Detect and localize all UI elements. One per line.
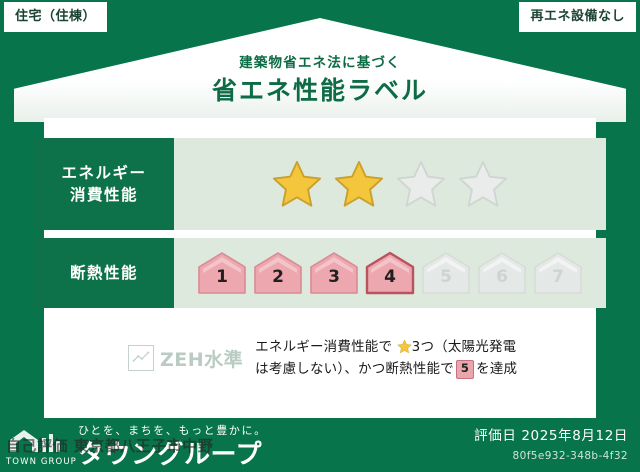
star-empty-icon <box>457 159 509 209</box>
title-subtitle: 建築物省エネ法に基づく <box>0 56 640 71</box>
zeh-desc-part3: を達成 <box>476 361 517 377</box>
insulation-level-scale: 1234567 <box>174 238 606 308</box>
insulation-level-number: 3 <box>328 269 340 295</box>
zeh-desc-part1: エネルギー消費性能で <box>255 339 392 355</box>
inline-star-icon <box>397 339 412 354</box>
insulation-level-number: 6 <box>496 269 508 295</box>
zeh-description: エネルギー消費性能で 3つ（太陽光発電は考慮しない）、かつ断熱性能で5を達成 <box>255 336 527 381</box>
row-label-insulation: 断熱性能 <box>34 238 174 308</box>
star-filled-icon <box>271 159 323 209</box>
tab-renewable-energy: 再エネ設備なし <box>519 2 636 32</box>
insulation-level-number: 5 <box>440 269 452 295</box>
insulation-level-number: 4 <box>384 269 396 295</box>
insulation-level-number: 1 <box>216 269 228 295</box>
insulation-level-badge-5: 5 <box>421 251 471 295</box>
insulation-level-number: 7 <box>552 269 564 295</box>
row-label-energy-line2: 消費性能 <box>70 184 138 206</box>
brand-logo: TOWN GROUP ひとを、まちを、もっと豊かに。 タウングループ <box>0 416 300 472</box>
brand-sub-label: TOWN GROUP <box>6 457 77 467</box>
town-group-mark-icon <box>6 426 70 458</box>
title-block: 建築物省エネ法に基づく 省エネ性能ラベル <box>0 56 640 106</box>
zeh-badge: ZEH水準 <box>128 345 243 372</box>
row-label-energy: エネルギー 消費性能 <box>34 138 174 230</box>
row-label-energy-line1: エネルギー <box>61 162 146 184</box>
zeh-standard-note: ZEH水準 エネルギー消費性能で 3つ（太陽光発電は考慮しない）、かつ断熱性能で… <box>128 336 527 381</box>
row-energy-performance: エネルギー 消費性能 <box>34 138 606 230</box>
energy-performance-label: 住宅（住棟） 再エネ設備なし 建築物省エネ法に基づく 省エネ性能ラベル エネルギ… <box>0 0 640 472</box>
star-filled-icon <box>333 159 385 209</box>
insulation-level-badge-3: 3 <box>309 251 359 295</box>
tab-building-type: 住宅（住棟） <box>4 2 107 32</box>
star-empty-icon <box>395 159 447 209</box>
document-id: 80f5e932-348b-4f32 <box>513 450 628 462</box>
insulation-level-badge-6: 6 <box>477 251 527 295</box>
evaluation-date: 評価日 2025年8月12日 <box>474 424 628 444</box>
energy-star-rating <box>174 138 606 230</box>
zeh-badge-label: ZEH水準 <box>160 345 243 372</box>
insulation-level-number: 2 <box>272 269 284 295</box>
row-insulation-performance: 断熱性能 1234567 <box>34 238 606 308</box>
insulation-level-badge-2: 2 <box>253 251 303 295</box>
insulation-level-badge-7: 7 <box>533 251 583 295</box>
page-title: 省エネ性能ラベル <box>0 75 640 106</box>
brand-name: タウングループ <box>78 434 262 471</box>
insulation-level-badge-4: 4 <box>365 251 415 295</box>
row-label-insulation-line1: 断熱性能 <box>70 262 138 284</box>
zeh-check-icon <box>128 345 154 371</box>
zeh-desc-level-chip: 5 <box>456 360 474 379</box>
insulation-level-badge-1: 1 <box>197 251 247 295</box>
